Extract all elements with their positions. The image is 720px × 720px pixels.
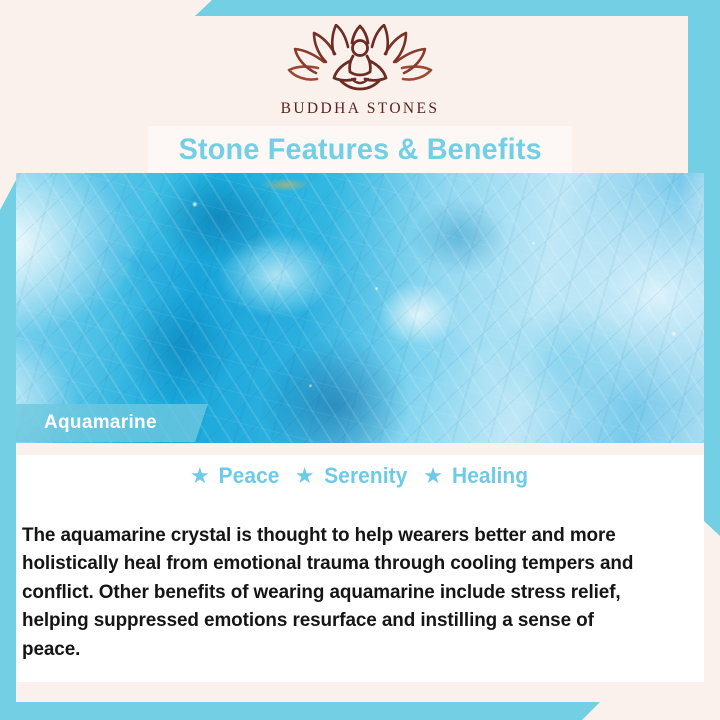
feature-item-peace: ★ Peace [190,463,281,489]
stone-name-tag: Aquamarine [16,404,208,442]
decor-bottom-bar [0,702,600,720]
star-icon: ★ [423,465,443,487]
brand-logo: BUDDHA STONES [0,24,720,118]
star-icon: ★ [295,465,315,487]
lotus-meditation-icon [278,24,442,96]
feature-label-serenity: Serenity [324,463,407,489]
poster-root: BUDDHA STONES Stone Features & Benefits … [0,0,720,720]
page-title: Stone Features & Benefits [178,133,541,167]
feature-label-healing: Healing [452,463,528,489]
content-card: ★ Peace ★ Serenity ★ Healing The aquamar… [16,455,704,682]
brand-name: BUDDHA STONES [0,100,720,118]
feature-label-peace: Peace [218,463,279,489]
decor-left-bar [0,180,16,720]
title-panel: Stone Features & Benefits [148,126,572,173]
hero-layer-sparkles [16,173,704,443]
feature-item-serenity: ★ Serenity [295,463,409,489]
brand-header: BUDDHA STONES [0,0,720,126]
star-icon: ★ [190,465,210,487]
body-description: The aquamarine crystal is thought to hel… [22,521,651,664]
hero-crystal-image [16,173,704,443]
feature-item-healing: ★ Healing [423,463,530,489]
divider-strip [16,443,704,455]
feature-list: ★ Peace ★ Serenity ★ Healing [16,463,704,489]
stone-name-label: Aquamarine [44,412,157,434]
